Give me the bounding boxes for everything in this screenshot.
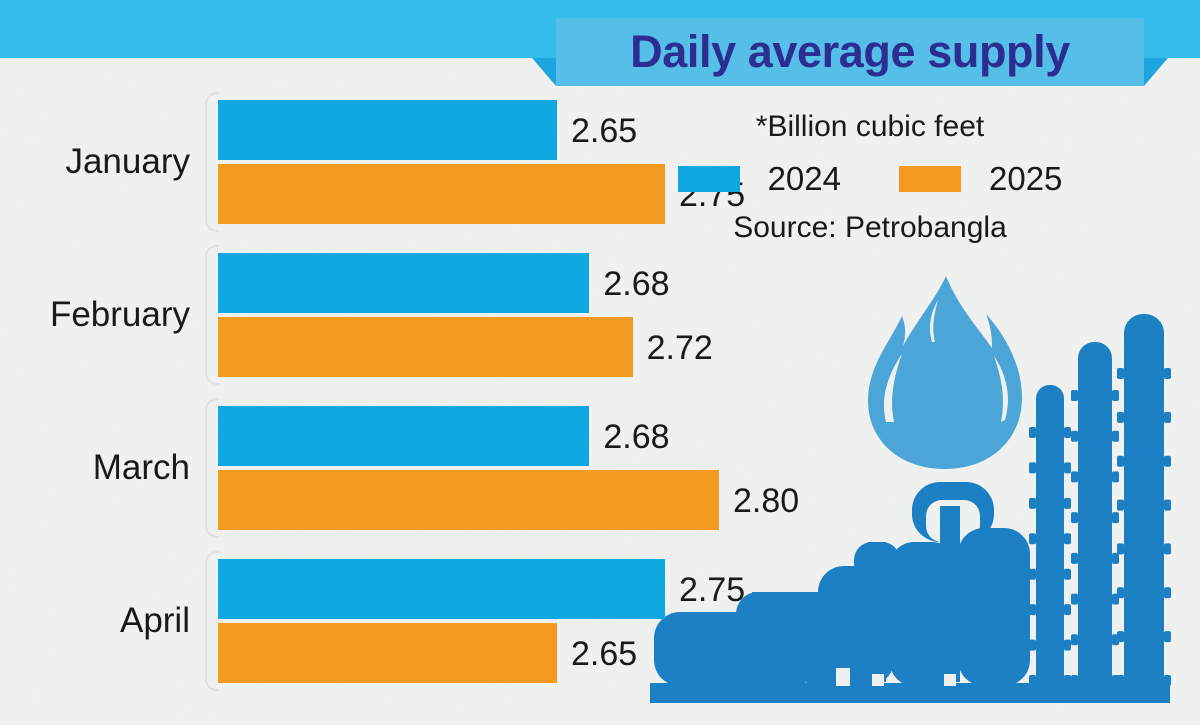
- ribbon-fold-left: [532, 58, 556, 86]
- bar-2025: [218, 470, 719, 530]
- ribbon-fold-right: [1144, 58, 1168, 86]
- value-label-2025: 2.65: [571, 637, 637, 671]
- bar-2024: [218, 559, 665, 619]
- month-label: April: [0, 599, 190, 643]
- source-label: Source: Petrobangla: [660, 213, 1080, 243]
- value-label-2025: 2.80: [733, 484, 799, 518]
- legend-row: 2024 2025: [660, 162, 1080, 195]
- month-label: January: [0, 140, 190, 184]
- group-bracket: [205, 245, 219, 385]
- value-label-2024: 2.68: [603, 420, 669, 454]
- bar-group: April2.752.65: [0, 551, 640, 691]
- bar-2024: [218, 253, 589, 313]
- value-label-2024: 2.65: [571, 114, 637, 148]
- value-label-2024: 2.75: [679, 573, 745, 607]
- units-note: *Billion cubic feet: [660, 112, 1080, 142]
- legend-swatch-2024: [678, 166, 740, 192]
- title-ribbon: Daily average supply: [556, 18, 1144, 86]
- bar-2024: [218, 100, 557, 160]
- bar-group: January2.652.75: [0, 92, 640, 232]
- bar-2024: [218, 406, 589, 466]
- legend-label-2024: 2024: [768, 162, 841, 195]
- bar-group: February2.682.72: [0, 245, 640, 385]
- gas-plant-illustration: [640, 270, 1200, 720]
- value-label-2024: 2.68: [603, 267, 669, 301]
- month-label: March: [0, 446, 190, 490]
- group-bracket: [205, 398, 219, 538]
- group-bracket: [205, 92, 219, 232]
- bar-2025: [218, 164, 665, 224]
- bar-chart: January2.652.75February2.682.72March2.68…: [0, 92, 640, 712]
- legend-swatch-2025: [899, 166, 961, 192]
- chart-legend: *Billion cubic feet 2024 2025 Source: Pe…: [660, 112, 1080, 243]
- bar-2025: [218, 317, 633, 377]
- value-label-2025: 2.72: [647, 331, 713, 365]
- group-bracket: [205, 551, 219, 691]
- page-title: Daily average supply: [630, 29, 1070, 74]
- legend-label-2025: 2025: [989, 162, 1062, 195]
- bar-2025: [218, 623, 557, 683]
- month-label: February: [0, 293, 190, 337]
- bar-group: March2.682.80: [0, 398, 640, 538]
